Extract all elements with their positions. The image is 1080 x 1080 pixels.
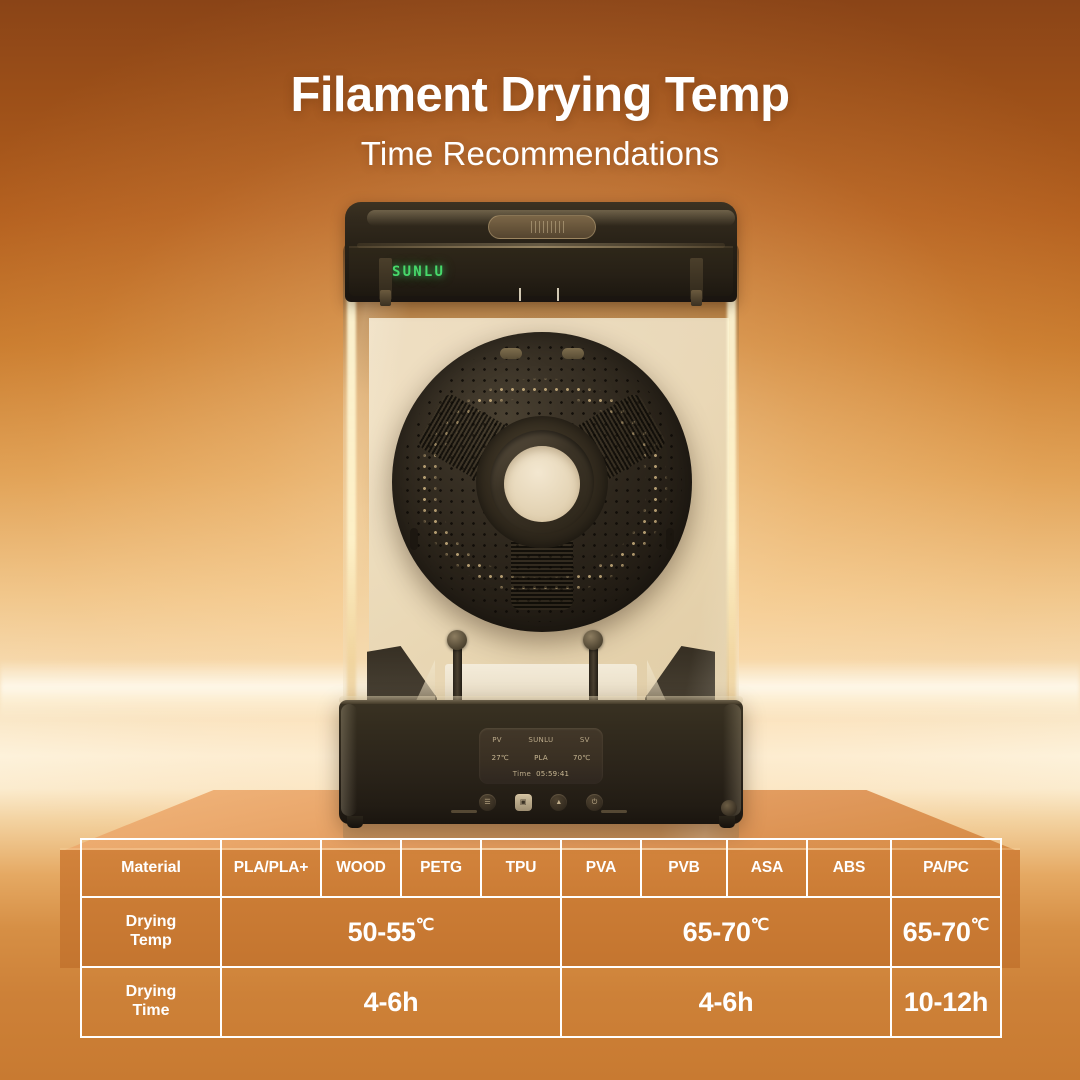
display-label-brand: SUNLU [528,736,553,744]
display-label-pv: PV [492,736,502,744]
filament-dryer-product-image: SUNLU PV SUNLU SV 27℃ PLA 70℃ Time 05:59… [335,196,747,796]
cell-drying-temp-group-2: 65-70℃ [561,897,891,967]
dryer-foot-left [347,816,363,828]
header-asa: ASA [727,839,807,897]
header-abs: ABS [807,839,891,897]
menu-button[interactable]: ☰ [479,794,496,811]
base-body-rim [339,696,743,704]
control-button-row: ☰ ▣ ▲ ⏻ [479,794,603,811]
cell-drying-temp-group-3: 65-70℃ [891,897,1001,967]
header-pvb: PVB [641,839,727,897]
lid-vent-right [557,288,559,301]
lid-vent-left [519,288,521,301]
header-pla-plaplus: PLA/PLA+ [221,839,321,897]
drying-spec-table-wrapper: Material PLA/PLA+ WOOD PETG TPU PVA PVB … [80,838,1000,1038]
header-petg: PETG [401,839,481,897]
cell-drying-time-group-3: 10-12h [891,967,1001,1037]
dryer-foot-right [719,816,735,828]
header-pva: PVA [561,839,641,897]
cell-drying-time-group-1: 4-6h [221,967,561,1037]
page-title: Filament Drying Temp [0,70,1080,121]
display-value-material: PLA [534,754,548,762]
table-header-row: Material PLA/PLA+ WOOD PETG TPU PVA PVB … [81,839,1001,897]
base-body-sheen-left [341,704,357,816]
dryer-side-knob [721,800,737,816]
header-material: Material [81,839,221,897]
control-panel-display: PV SUNLU SV 27℃ PLA 70℃ Time 05:59:41 [479,728,603,784]
header-block: Filament Drying Temp Time Recommendation… [0,70,1080,173]
sunlu-logo: SUNLU [392,264,445,280]
table-row-drying-temp: Drying Temp 50-55℃ 65-70℃ 65-70℃ [81,897,1001,967]
drying-spec-table: Material PLA/PLA+ WOOD PETG TPU PVA PVB … [80,838,1002,1038]
row-label-line1: Drying [126,913,177,930]
chamber-edge-highlight-right [727,242,736,742]
page-subtitle: Time Recommendations [0,135,1080,173]
lid-clip-left [380,290,391,306]
material-button[interactable]: ▣ [515,794,532,811]
display-label-sv: SV [580,736,590,744]
display-value-pv: 27℃ [492,754,509,762]
row-label-line2: Time [132,1002,169,1019]
display-time-value: 05:59:41 [536,770,569,778]
lid-handle-grill [531,221,567,233]
chamber-edge-highlight-left [347,242,356,742]
base-body-sheen-right [723,704,741,816]
header-tpu: TPU [481,839,561,897]
row-label-line2: Temp [130,932,171,949]
display-time-row: Time 05:59:41 [479,770,603,778]
display-value-row: 27℃ PLA 70℃ [479,754,603,762]
display-label-row: PV SUNLU SV [479,736,603,744]
lid-clip-right [691,290,702,306]
header-pa-pc: PA/PC [891,839,1001,897]
up-button[interactable]: ▲ [550,794,567,811]
row-label-drying-temp: Drying Temp [81,897,221,967]
row-label-drying-time: Drying Time [81,967,221,1037]
display-value-sv: 70℃ [573,754,590,762]
cell-drying-time-group-2: 4-6h [561,967,891,1037]
base-vent-slot-right [601,810,627,813]
header-wood: WOOD [321,839,401,897]
base-vent-slot-left [451,810,477,813]
cell-drying-temp-group-1: 50-55℃ [221,897,561,967]
display-time-label: Time [513,770,531,778]
row-label-line1: Drying [126,983,177,1000]
power-button[interactable]: ⏻ [586,794,603,811]
table-row-drying-time: Drying Time 4-6h 4-6h 10-12h [81,967,1001,1037]
